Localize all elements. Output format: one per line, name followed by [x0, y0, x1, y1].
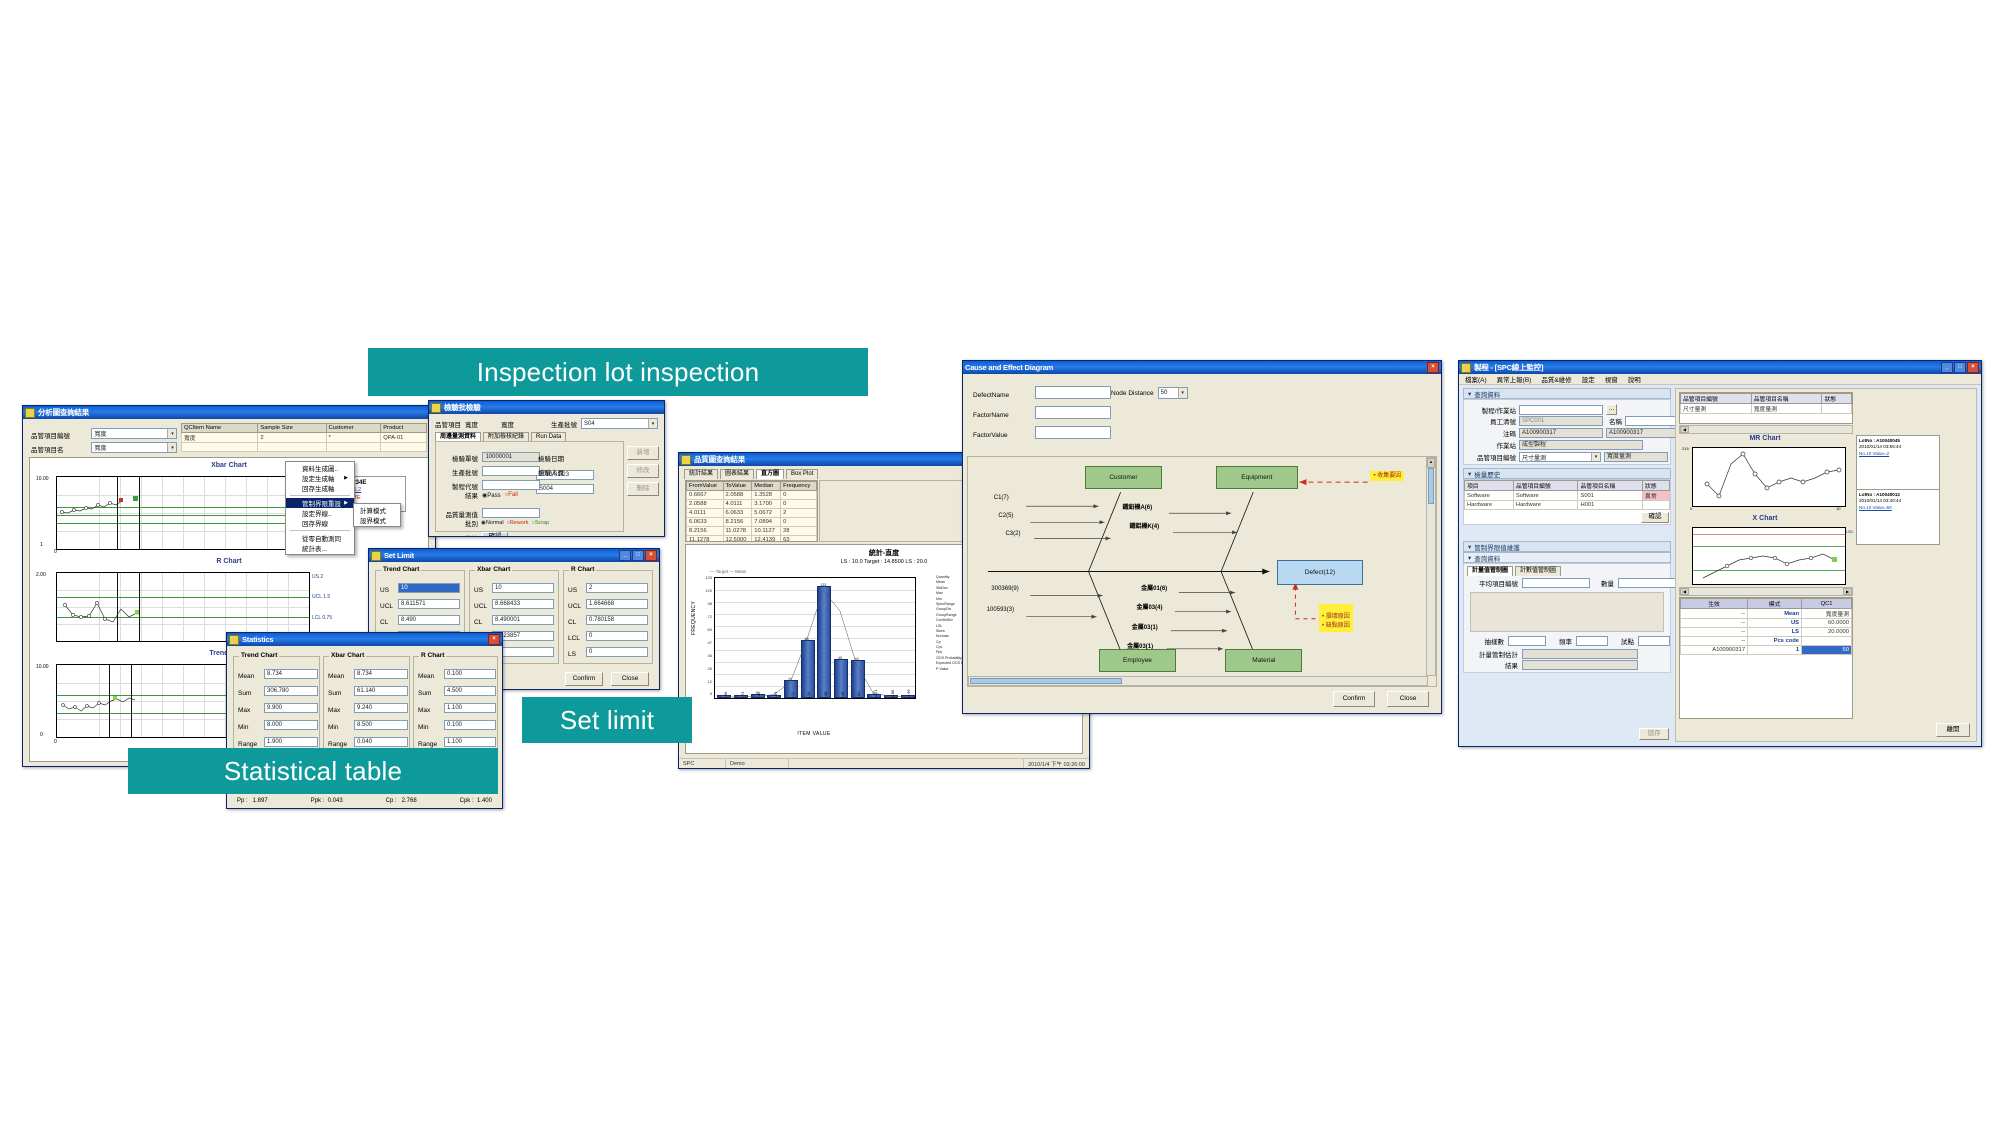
- stat-xbar-max-value[interactable]: 9.240: [354, 703, 408, 713]
- cell: 0: [781, 500, 817, 509]
- hist-tab-3[interactable]: Box Plot: [786, 469, 818, 479]
- cell: LS: [1748, 628, 1802, 637]
- histogram-xlabel: ITEM VALUE: [714, 731, 914, 737]
- r-cl-value[interactable]: 0.780158: [586, 615, 648, 625]
- factor-material-1[interactable]: 金屬03(4): [1136, 602, 1162, 611]
- radio-normal-label: Normal: [486, 520, 504, 526]
- stat-r-max[interactable]: Max1.100: [418, 699, 496, 717]
- confirm-row[interactable]: 備註 確認: [442, 532, 508, 536]
- status-user: Demo: [726, 759, 789, 768]
- xbar-ymax: 10.00: [36, 476, 49, 482]
- ce-confirm-button[interactable]: Confirm: [1333, 691, 1375, 707]
- section-history[interactable]: ▾ 檢量歷史: [1463, 468, 1671, 479]
- stat-r-min[interactable]: Min0.100: [418, 716, 496, 734]
- window-buttons[interactable]: _ □ ×: [619, 550, 657, 561]
- lot-panel-0[interactable]: LotNo : A10040045 2010/01/14 03:55:44 No…: [1856, 435, 1940, 491]
- ytick-9: 0: [710, 691, 712, 696]
- filter-value-1: 寬度: [94, 443, 106, 452]
- limit-list-area[interactable]: [1470, 592, 1664, 632]
- scroll-up-arrow-icon[interactable]: ▲: [1427, 458, 1435, 468]
- hist-tab-2[interactable]: 直方圖: [756, 469, 784, 479]
- field-value-1[interactable]: [482, 466, 540, 476]
- menu-separator: [290, 495, 350, 496]
- field-value-2[interactable]: [482, 480, 540, 490]
- spc-chart-column: 品管項目編號 品管項目名稱 狀態 尺寸量測寬度量測 ◀ MR Chart: [1675, 388, 1977, 742]
- xbar-chart-plot[interactable]: [56, 476, 310, 550]
- cell: 8.2156: [687, 527, 724, 536]
- ppk-value: Ppk : 0.043: [311, 798, 343, 804]
- chevron-down-icon[interactable]: ▾: [167, 429, 176, 438]
- scroll-thumb[interactable]: [1428, 468, 1434, 504]
- r-ymax: 2.00: [36, 572, 46, 578]
- minimize-button[interactable]: _: [1941, 362, 1953, 373]
- fishbone-canvas[interactable]: Customer Equipment Employee Material Def…: [967, 456, 1437, 687]
- spc-grid-hscroll[interactable]: ◀: [1679, 425, 1853, 434]
- ytick-0: 133: [705, 575, 712, 580]
- limit-row-3[interactable]: 結果: [1470, 660, 1638, 670]
- lot-combo[interactable]: S04 ▾: [581, 418, 658, 429]
- ce-close-button[interactable]: Close: [1387, 691, 1429, 707]
- trend-ymax: 10.00: [36, 664, 49, 670]
- factor-customer-2[interactable]: C3(2): [1005, 531, 1020, 537]
- menu-quality[interactable]: 品質&維修: [1541, 374, 1571, 384]
- col-effective: 生效: [1681, 599, 1748, 609]
- scroll-left-arrow-icon[interactable]: ◀: [1680, 426, 1689, 433]
- stat-xbar-sum[interactable]: Sum61.140: [328, 682, 408, 700]
- filter-combo-1[interactable]: 寬度 ▾: [91, 442, 177, 453]
- menu-file[interactable]: 檔案(A): [1465, 374, 1487, 384]
- cell: 0: [781, 491, 817, 500]
- form-combo-6[interactable]: 尺寸量測 ▾: [1519, 452, 1601, 462]
- factorname-input[interactable]: [1035, 406, 1111, 419]
- menu-window[interactable]: 視窗: [1605, 374, 1618, 384]
- xtick-label: 10.74: [874, 689, 878, 699]
- close-button[interactable]: ×: [1427, 362, 1439, 373]
- fishbone-category-equipment[interactable]: Equipment: [1216, 466, 1298, 489]
- set-limit-titlebar[interactable]: Set Limit _ □ ×: [369, 549, 659, 562]
- maximize-button[interactable]: □: [1954, 362, 1966, 373]
- factor-equipment-0[interactable]: 鐵鉛機A(6): [1122, 502, 1152, 511]
- bar-value-label: 133: [815, 583, 832, 587]
- cell: 2.0588: [723, 491, 752, 500]
- trend-cl-value[interactable]: 8.490: [398, 615, 460, 625]
- stats-xbar-caption: Xbar Chart: [329, 652, 366, 659]
- stat-r-min-value[interactable]: 0.100: [444, 720, 496, 730]
- table-row[interactable]: --Pcs code: [1681, 637, 1852, 646]
- r-ls-row[interactable]: LS0: [568, 643, 648, 661]
- table-row[interactable]: --Mean寬度量測: [1681, 609, 1852, 619]
- table-row[interactable]: --LS20.0000: [1681, 628, 1852, 637]
- fishbone-effect-defect[interactable]: Defect(12): [1277, 560, 1363, 585]
- bar-value-label: 45: [832, 656, 849, 660]
- radio-normal[interactable]: ◉Normal: [481, 520, 504, 526]
- menu-settings[interactable]: 設定: [1582, 374, 1595, 384]
- limit-row-2[interactable]: 計量管制估計: [1470, 649, 1638, 659]
- histogram-bar[interactable]: [817, 586, 831, 698]
- expander-icon[interactable]: ▾: [1468, 390, 1471, 398]
- menu-exception[interactable]: 異常上報(B): [1497, 374, 1532, 384]
- form-input-1: SPC001: [1519, 416, 1603, 426]
- cell: Pcs code: [1748, 637, 1802, 646]
- spc-titlebar[interactable]: 製程 - [SPC線上監控] _ □ ×: [1459, 361, 1981, 374]
- lbl: Min: [418, 724, 444, 731]
- radio-scrap[interactable]: ○Scrap: [532, 520, 550, 526]
- setlimit-confirm-button[interactable]: Confirm: [565, 672, 603, 686]
- stat-r-max-value[interactable]: 1.100: [444, 703, 496, 713]
- form-row-0[interactable]: 製程/作業站 …: [1468, 404, 1617, 415]
- table-header-row: FromValue ToValue Median Frequency: [687, 482, 817, 491]
- chevron-down-icon[interactable]: ▾: [1591, 453, 1600, 461]
- annotation-text: • 收集要因: [1373, 473, 1401, 479]
- table-row[interactable]: 8.215611.027810.112728: [687, 527, 817, 536]
- submenu-item-1[interactable]: 設界模式: [354, 515, 400, 525]
- node-distance-combo[interactable]: 50 ▾: [1158, 387, 1188, 399]
- r-label-lcl: LCL 0.75: [312, 615, 332, 621]
- form-label-0: 製程/作業站: [1468, 405, 1516, 415]
- lbl: Sum: [418, 690, 444, 697]
- histogram-tabs[interactable]: 統計結果 圖表結果 直方圖 Box Plot: [684, 469, 818, 479]
- node-distance-label: Node Distance: [1111, 390, 1154, 397]
- col-median: Median: [752, 482, 781, 491]
- chart-context-menu[interactable]: 資料生成圖.. 設定生成軸▶ 回存生成軸 管制界限重設▶ 設定界線.. 回存界線…: [285, 461, 355, 555]
- menu-item-2[interactable]: 回存生成軸: [286, 483, 354, 493]
- inspection-panel: 檢驗單號 10000001 檢驗日期 2010/01/23 生產批號 檢驗人員 …: [435, 441, 624, 532]
- x-chart-plot[interactable]: [1692, 527, 1846, 585]
- factor-material-2[interactable]: 金屬03(1): [1132, 622, 1158, 631]
- close-icon[interactable]: ×: [488, 634, 500, 645]
- delete-button[interactable]: 刪除: [627, 482, 659, 496]
- mr-chart-plot[interactable]: [1692, 447, 1846, 507]
- fishbone-hscrollbar[interactable]: [968, 676, 1428, 686]
- expander-icon[interactable]: ▾: [1468, 470, 1471, 478]
- stat-xbar-range-value[interactable]: 0.040: [354, 737, 408, 747]
- form-row-3[interactable]: 作業站 成型製程: [1468, 440, 1643, 450]
- stat-trend-mean[interactable]: Mean8.734: [238, 665, 318, 683]
- limit-input-1[interactable]: [1618, 578, 1680, 588]
- filter-combo-0[interactable]: 寬度 ▾: [91, 428, 177, 439]
- menu-item-1[interactable]: 設定生成軸▶: [286, 473, 354, 483]
- window-buttons[interactable]: _ □ ×: [1941, 362, 1979, 373]
- limit-save-button[interactable]: 儲存: [1639, 728, 1669, 740]
- hist-tab-1[interactable]: 圖表結果: [720, 469, 754, 479]
- stat-value-min[interactable]: 8.000: [264, 720, 318, 730]
- spc-window[interactable]: 製程 - [SPC線上監控] _ □ × 檔案(A) 異常上報(B) 品質&維修…: [1458, 360, 1982, 747]
- chart-hscroll[interactable]: ◀ ▶: [1679, 587, 1853, 596]
- right-grid-table: 品管項目編號 品管項目名稱 狀態 尺寸量測寬度量測: [1680, 393, 1852, 414]
- limit-tab-1[interactable]: 計數值管制圖: [1515, 566, 1561, 576]
- hist-tab-0[interactable]: 統計結果: [684, 469, 718, 479]
- field-value-5[interactable]: [482, 508, 540, 518]
- close-button[interactable]: ×: [1967, 362, 1979, 373]
- bar-value-label: 68: [798, 637, 815, 641]
- factor-customer-0[interactable]: C1(7): [994, 495, 1009, 501]
- stat-xbar-min[interactable]: Min8.500: [328, 716, 408, 734]
- form-row-2[interactable]: 注碼 A100900317 A100900317: [1468, 428, 1680, 438]
- fishbone-category-material[interactable]: Material: [1225, 649, 1302, 672]
- cell: 28: [781, 527, 817, 536]
- radio-pass[interactable]: ◉Pass: [482, 492, 501, 499]
- table-header-row: 品管項目編號 品管項目名稱 狀態: [1681, 394, 1852, 404]
- lot-panel-1-link[interactable]: No.10 Value=50: [1859, 505, 1937, 511]
- banner-setlimit-label: Set limit: [560, 705, 654, 736]
- spc-bottom-grid[interactable]: 生效 模式 QC1 --Mean寬度量測 --US60.0000 --LS20.…: [1679, 597, 1853, 719]
- lot-panel-0-link[interactable]: No.10 Value=2: [1859, 451, 1937, 457]
- table-row[interactable]: A100900317150: [1681, 646, 1852, 655]
- stat-xbar-sum-value[interactable]: 61.140: [354, 686, 408, 696]
- stat-xbar-max[interactable]: Max9.240: [328, 699, 408, 717]
- spc-menubar[interactable]: 檔案(A) 異常上報(B) 品質&維修 設定 視窗 說明: [1459, 374, 1981, 385]
- stat-r-sum[interactable]: Sum4.500: [418, 682, 496, 700]
- xbar-ucl-label: UCL: [474, 603, 492, 610]
- r-ucl-value[interactable]: 1.664668: [586, 599, 648, 609]
- radio-group-label-1: 批別: [442, 518, 478, 528]
- factor-employee-0[interactable]: 300369(9): [991, 586, 1018, 592]
- limit-input-3[interactable]: [1576, 636, 1608, 646]
- cause-effect-window[interactable]: Cause and Effect Diagram × DefectName Fa…: [962, 360, 1442, 714]
- ytick-5: 47: [708, 640, 712, 645]
- table-row[interactable]: [182, 443, 427, 452]
- analysis-filter-1[interactable]: 品管項目名 寬度 ▾: [31, 439, 177, 457]
- lot-panel-1[interactable]: LotNo : A10040012 2010/01/14 03:40:44 No…: [1856, 489, 1940, 545]
- limit-input-0[interactable]: [1522, 578, 1590, 588]
- stat-r-mean-value[interactable]: 0.100: [444, 669, 496, 679]
- table-row[interactable]: --US60.0000: [1681, 619, 1852, 628]
- radio-rework[interactable]: ○Rework: [507, 520, 529, 526]
- xtick-label: 3.99: [774, 692, 778, 699]
- confirm-button[interactable]: 確認: [482, 532, 508, 536]
- table-row[interactable]: 11.127812.500012.413963: [687, 536, 817, 543]
- spc-history-grid[interactable]: 項目 品管項目編號 品管項目名稱 狀態 SoftwareSoftwareS001…: [1463, 479, 1671, 525]
- section-query[interactable]: ▾ 查詢資料: [1463, 388, 1671, 399]
- factorname-row[interactable]: FactorName: [973, 404, 1111, 422]
- window-buttons[interactable]: ×: [488, 634, 500, 645]
- r-lcl-value[interactable]: 0: [586, 631, 648, 641]
- stat-trend-min[interactable]: Min8.000: [238, 716, 318, 734]
- chevron-down-icon[interactable]: ▾: [1178, 388, 1187, 398]
- statistics-titlebar[interactable]: Statistics ×: [227, 633, 502, 646]
- defectname-row[interactable]: DefectName: [973, 384, 1111, 402]
- cell: 1.3528: [752, 491, 781, 500]
- factor-equipment-1[interactable]: 鐵鋁機K(4): [1129, 521, 1159, 530]
- field-row-4[interactable]: 檢驗人員 S004: [536, 462, 623, 498]
- history-grid-table: 項目 品管項目編號 品管項目名稱 狀態 SoftwareSoftwareS001…: [1464, 480, 1670, 510]
- factor-material-3[interactable]: 金屬03(1): [1127, 641, 1153, 650]
- histogram-legend: — Target — Mean: [710, 569, 746, 574]
- node-distance-row[interactable]: Node Distance 50 ▾: [1111, 387, 1188, 399]
- category-label: Employee: [1123, 657, 1152, 664]
- form-label-6: 品管項目編號: [1468, 452, 1516, 462]
- stat-value-range[interactable]: 1.900: [264, 737, 318, 747]
- cell-empty: [258, 443, 326, 452]
- histogram-plot[interactable]: 3196813345442: [714, 577, 916, 699]
- gridline: [715, 674, 915, 675]
- stat-xbar-mean-value[interactable]: 8.734: [354, 669, 408, 679]
- section-limit-maint[interactable]: ▾ 管制界限值維護: [1463, 541, 1671, 552]
- menu-item-6[interactable]: 從零自動測同: [286, 533, 354, 543]
- histogram-grid[interactable]: FromValue ToValue Median Frequency 0.666…: [685, 480, 818, 542]
- table-row[interactable]: 寬度 2 * QPA-01: [182, 433, 427, 443]
- setlimit-close-button[interactable]: Close: [611, 672, 649, 686]
- analysis-grid[interactable]: QCItem Name Sample Size Customer Product…: [181, 423, 427, 452]
- form-row-4[interactable]: 品管項目編號 尺寸量測 ▾ 寬度量測: [1468, 452, 1668, 462]
- edit-button[interactable]: 修改: [627, 464, 659, 478]
- lbl: Mean: [418, 673, 444, 680]
- inspection-window[interactable]: 檢驗批檢驗 品管項目 寬度 寬度 生產批號 S04 ▾ 周邊量測資料 附加檢核紀…: [428, 400, 665, 537]
- limit-tab-0[interactable]: 計量值管制圖: [1467, 566, 1513, 576]
- radio-fail[interactable]: ○Fail: [505, 492, 518, 498]
- limit-label-5: 計量管制估計: [1470, 649, 1518, 659]
- minimize-button[interactable]: _: [619, 550, 631, 561]
- menu-label-1: 設定生成軸: [302, 473, 335, 483]
- factor-material-0[interactable]: 金屬01(6): [1141, 583, 1167, 592]
- fishbone-category-employee[interactable]: Employee: [1099, 649, 1176, 672]
- xbar-cl-label: CL: [474, 619, 492, 626]
- menu-help[interactable]: 說明: [1628, 374, 1641, 384]
- scroll-thumb[interactable]: [970, 678, 1122, 684]
- form-input-2[interactable]: [1625, 416, 1681, 426]
- xbar-cl-value[interactable]: 8.490001: [492, 615, 554, 625]
- add-button[interactable]: 新增: [627, 446, 659, 460]
- field-value-0[interactable]: 10000001: [482, 452, 540, 462]
- xtick-label: 12.99: [907, 689, 911, 699]
- stat-xbar-mean[interactable]: Mean8.734: [328, 665, 408, 683]
- table-row[interactable]: 尺寸量測寬度量測: [1681, 404, 1852, 414]
- fishbone-category-customer[interactable]: Customer: [1085, 466, 1162, 489]
- xbar-series: [57, 477, 309, 549]
- limit-label-0: 平均項目編號: [1470, 578, 1518, 588]
- histogram-bar[interactable]: [801, 640, 815, 698]
- cell: 1: [1748, 646, 1802, 655]
- stat-r-mean[interactable]: Mean0.100: [418, 665, 496, 683]
- chevron-down-icon[interactable]: ▾: [648, 419, 657, 428]
- pp-value: Pp : 1.897: [237, 798, 268, 804]
- cell: Software: [1513, 491, 1578, 501]
- section-query-2[interactable]: ▾ 查詢資料: [1463, 552, 1671, 563]
- menu-item-4[interactable]: 設定界線..: [286, 508, 354, 518]
- menu-item-7[interactable]: 統計表...: [286, 543, 354, 553]
- xbar-us-value[interactable]: 10: [492, 583, 554, 593]
- limit-row-0[interactable]: 平均項目編號 數量: [1470, 578, 1680, 588]
- table-row[interactable]: 6.06338.21567.08940: [687, 518, 817, 527]
- table-row[interactable]: SoftwareSoftwareS001異常: [1465, 491, 1670, 501]
- cause-effect-titlebar[interactable]: Cause and Effect Diagram ×: [963, 361, 1441, 374]
- factor-employee-1[interactable]: 100593(3): [987, 607, 1014, 613]
- cell: 63: [781, 536, 817, 543]
- picker-button[interactable]: …: [1606, 404, 1617, 415]
- col-product: Product: [381, 424, 427, 433]
- fishbone-vscrollbar[interactable]: ▲: [1426, 457, 1436, 676]
- factorvalue-row[interactable]: FactorValue: [973, 424, 1111, 442]
- chevron-down-icon[interactable]: ▾: [167, 443, 176, 452]
- limit-input-2[interactable]: [1508, 636, 1546, 646]
- table-row[interactable]: 4.01116.06335.06722: [687, 509, 817, 518]
- cell: 寬度量測: [1802, 609, 1852, 619]
- chart-context-submenu[interactable]: 計算模式 設界模式: [353, 503, 401, 527]
- trend-us-value[interactable]: 10: [398, 583, 460, 593]
- menu-item-3[interactable]: 管制界限重設▶: [286, 498, 354, 508]
- submenu-item-0[interactable]: 計算模式: [354, 505, 400, 515]
- cell: 4.0111: [723, 500, 752, 509]
- spc-left-column: ▾ 查詢資料 製程/作業站 … 員工清號 SPC001 名稱 注碼 A10090…: [1463, 388, 1671, 742]
- cause-effect-title: Cause and Effect Diagram: [965, 363, 1427, 372]
- mr-xmin-tick: 0: [1690, 506, 1692, 511]
- cell: 6.0633: [723, 509, 752, 518]
- stat-r-sum-value[interactable]: 4.500: [444, 686, 496, 696]
- inspection-titlebar[interactable]: 檢驗批檢驗: [429, 401, 664, 414]
- lot-type-radio-group[interactable]: 批別 ◉Normal ○Rework ○Scrap: [442, 518, 549, 528]
- expander-icon[interactable]: ▾: [1468, 543, 1471, 551]
- stat-label-mean: Mean: [238, 673, 264, 680]
- r-limit-caption: R Chart: [569, 566, 596, 573]
- analysis-grid-table: QCItem Name Sample Size Customer Product…: [181, 423, 427, 452]
- r-ls-value[interactable]: 0: [586, 647, 648, 657]
- table-row[interactable]: 0.66672.05881.35280: [687, 491, 817, 500]
- scroll-right-arrow-icon[interactable]: ▶: [1843, 588, 1852, 595]
- limit-row-1[interactable]: 抽樣數 頻率 試點: [1470, 636, 1670, 646]
- spc-right-grid[interactable]: 品管項目編號 品管項目名稱 狀態 尺寸量測寬度量測: [1679, 392, 1853, 424]
- window-buttons[interactable]: ×: [1427, 362, 1439, 373]
- limit-input-4[interactable]: [1638, 636, 1670, 646]
- factor-customer-1[interactable]: C2(5): [998, 513, 1013, 519]
- stat-trend-max[interactable]: Max9.900: [238, 699, 318, 717]
- stat-r-range-value[interactable]: 1.100: [444, 737, 496, 747]
- table-row[interactable]: 2.05884.01113.17000: [687, 500, 817, 509]
- defectname-input[interactable]: [1035, 386, 1111, 399]
- limit-tabs[interactable]: 計量值管制圖 計數值管制圖: [1467, 566, 1561, 576]
- stat-trend-sum[interactable]: Sum306.780: [238, 682, 318, 700]
- stat-xbar-min-value[interactable]: 8.500: [354, 720, 408, 730]
- cell: [1822, 404, 1852, 414]
- analysis-titlebar[interactable]: 分析圖查詢結果: [23, 406, 435, 419]
- annotation-collect-cause: • 收集要因: [1370, 471, 1404, 482]
- histogram-grid-table: FromValue ToValue Median Frequency 0.666…: [686, 481, 817, 542]
- stat-value-max[interactable]: 9.900: [264, 703, 318, 713]
- menu-item-0[interactable]: 資料生成圖..: [286, 463, 354, 473]
- table-header-row: 項目 品管項目編號 品管項目名稱 狀態: [1465, 481, 1670, 491]
- menu-item-5[interactable]: 回存界線: [286, 518, 354, 528]
- maximize-button[interactable]: □: [632, 550, 644, 561]
- col-customer: Customer: [326, 424, 381, 433]
- limit-label-3: 頻率: [1550, 636, 1572, 646]
- cell: 11.1278: [687, 536, 724, 543]
- factorvalue-input[interactable]: [1035, 426, 1111, 439]
- r-series: [57, 573, 309, 641]
- r-us-value[interactable]: 2: [586, 583, 648, 593]
- close-button[interactable]: ×: [645, 550, 657, 561]
- scroll-left-arrow-icon[interactable]: ◀: [1680, 588, 1689, 595]
- menu-label-7: 統計表...: [302, 543, 327, 553]
- table-row[interactable]: HardwareHardwareH001: [1465, 501, 1670, 510]
- cell: 12.5000: [723, 536, 752, 543]
- expander-icon[interactable]: ▾: [1468, 554, 1471, 562]
- cell: [1802, 637, 1852, 646]
- result-radio-group[interactable]: 結果 ◉Pass ○Fail: [442, 490, 518, 500]
- cell: 5.0672: [752, 509, 781, 518]
- stat-value-sum[interactable]: 306.780: [264, 686, 318, 696]
- field-value-4[interactable]: S004: [536, 484, 594, 494]
- xbar-ucl-value[interactable]: 8.668433: [492, 599, 554, 609]
- trend-ucl-value[interactable]: 8.611571: [398, 599, 460, 609]
- form-input-0[interactable]: [1519, 405, 1603, 415]
- annotation-text: • 損壞原因 • 缺點原因: [1322, 614, 1350, 629]
- spc-exit-button[interactable]: 離開: [1936, 723, 1970, 737]
- stat-value-mean[interactable]: 8.734: [264, 669, 318, 679]
- cell: Hardware: [1465, 501, 1514, 510]
- form-row-1[interactable]: 員工清號 SPC001 名稱: [1468, 416, 1681, 426]
- r-ls-label: LS: [568, 651, 586, 658]
- inspection-title: 檢驗批檢驗: [444, 402, 662, 413]
- history-detail-button[interactable]: 確認: [1641, 512, 1669, 523]
